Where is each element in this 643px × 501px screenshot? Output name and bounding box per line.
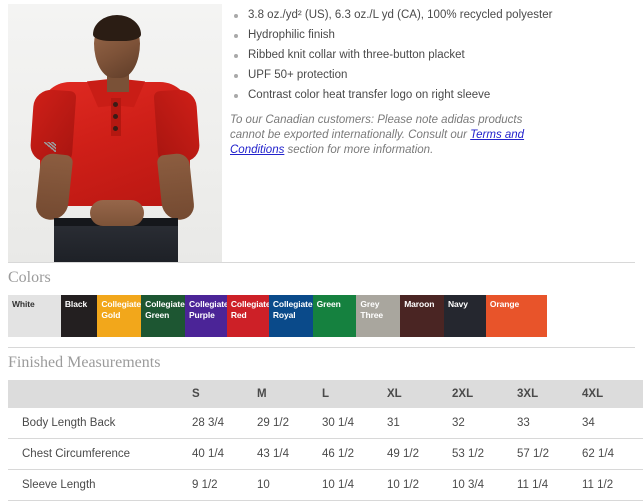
column-header-4xl: 4XL: [582, 380, 643, 408]
color-swatch-grey-three[interactable]: Grey Three: [356, 295, 400, 337]
row-label: Chest Circumference: [8, 439, 192, 470]
canada-note-text-after: section for more information.: [284, 144, 433, 156]
placket-button-2: [113, 114, 118, 119]
cell-4xl: 62 1/4: [582, 439, 643, 470]
color-swatch-maroon[interactable]: Maroon: [400, 295, 444, 337]
color-swatch-label: Black: [65, 299, 95, 310]
column-header-s: S: [192, 380, 257, 408]
color-swatch-collegiate-purple[interactable]: Collegiate Purple: [185, 295, 227, 337]
color-swatch-collegiate-red[interactable]: Collegiate Red: [227, 295, 269, 337]
table-row: Chest Circumference 40 1/4 43 1/4 46 1/2…: [8, 439, 643, 470]
color-swatch-collegiate-royal[interactable]: Collegiate Royal: [269, 295, 313, 337]
colors-heading: Colors: [8, 269, 643, 287]
row-label: Sleeve Length: [8, 470, 192, 501]
color-swatch-label: Green: [317, 299, 355, 310]
cell-3xl: 57 1/2: [517, 439, 582, 470]
list-item: UPF 50+ protection: [230, 68, 633, 83]
cell-xl: 31: [387, 408, 452, 439]
model-hands: [90, 200, 144, 226]
finished-measurements-table: S M L XL 2XL 3XL 4XL Body Length Back 28…: [8, 380, 643, 501]
measurements-section-divider: [8, 347, 635, 348]
cell-m: 29 1/2: [257, 408, 322, 439]
cell-4xl: 34: [582, 408, 643, 439]
column-header-measurement: [8, 380, 192, 408]
cell-s: 40 1/4: [192, 439, 257, 470]
polo-shirt-left-sleeve: [30, 89, 77, 164]
cell-l: 10 1/4: [322, 470, 387, 501]
column-header-3xl: 3XL: [517, 380, 582, 408]
table-header-row: S M L XL 2XL 3XL 4XL: [8, 380, 643, 408]
placket-button-1: [113, 102, 118, 107]
color-swatch-collegiate-green[interactable]: Collegiate Green: [141, 295, 185, 337]
cell-l: 30 1/4: [322, 408, 387, 439]
feature-list-container: 3.8 oz./yd² (US), 6.3 oz./L yd (CA), 100…: [222, 0, 643, 170]
cell-2xl: 10 3/4: [452, 470, 517, 501]
color-swatch-black[interactable]: Black: [61, 295, 97, 337]
list-item: 3.8 oz./yd² (US), 6.3 oz./L yd (CA), 100…: [230, 8, 633, 23]
color-swatch-list: White Black Collegiate Gold Collegiate G…: [8, 295, 547, 337]
table-header: S M L XL 2XL 3XL 4XL: [8, 380, 643, 408]
list-item: Contrast color heat transfer logo on rig…: [230, 88, 633, 103]
color-swatch-label: Collegiate Purple: [189, 299, 225, 320]
row-label: Body Length Back: [8, 408, 192, 439]
colors-section-divider: [8, 262, 635, 263]
color-swatch-label: White: [12, 299, 59, 310]
color-swatch-collegiate-gold[interactable]: Collegiate Gold: [97, 295, 141, 337]
adidas-logo-icon: [44, 142, 56, 152]
column-header-2xl: 2XL: [452, 380, 517, 408]
polo-shirt-right-sleeve: [154, 89, 201, 164]
column-header-m: M: [257, 380, 322, 408]
product-overview-section: 3.8 oz./yd² (US), 6.3 oz./L yd (CA), 100…: [0, 0, 643, 262]
cell-2xl: 32: [452, 408, 517, 439]
finished-measurements-heading: Finished Measurements: [8, 354, 643, 372]
color-swatch-label: Collegiate Red: [231, 299, 267, 320]
cell-xl: 49 1/2: [387, 439, 452, 470]
color-swatch-label: Collegiate Green: [145, 299, 183, 320]
cell-xl: 10 1/2: [387, 470, 452, 501]
color-swatch-label: Grey Three: [360, 299, 398, 320]
canadian-customers-note: To our Canadian customers: Please note a…: [230, 113, 560, 158]
product-image[interactable]: [8, 4, 222, 262]
product-feature-list: 3.8 oz./yd² (US), 6.3 oz./L yd (CA), 100…: [230, 8, 633, 103]
cell-m: 10: [257, 470, 322, 501]
color-swatch-navy[interactable]: Navy: [444, 295, 486, 337]
color-swatch-white[interactable]: White: [8, 295, 61, 337]
cell-m: 43 1/4: [257, 439, 322, 470]
cell-4xl: 11 1/2: [582, 470, 643, 501]
cell-3xl: 11 1/4: [517, 470, 582, 501]
color-swatch-green[interactable]: Green: [313, 295, 357, 337]
table-body: Body Length Back 28 3/4 29 1/2 30 1/4 31…: [8, 408, 643, 501]
column-header-l: L: [322, 380, 387, 408]
cell-s: 28 3/4: [192, 408, 257, 439]
color-swatch-orange[interactable]: Orange: [486, 295, 547, 337]
color-swatch-label: Navy: [448, 299, 484, 310]
list-item: Ribbed knit collar with three-button pla…: [230, 48, 633, 63]
list-item: Hydrophilic finish: [230, 28, 633, 43]
color-swatch-label: Maroon: [404, 299, 442, 310]
cell-l: 46 1/2: [322, 439, 387, 470]
table-row: Body Length Back 28 3/4 29 1/2 30 1/4 31…: [8, 408, 643, 439]
cell-2xl: 53 1/2: [452, 439, 517, 470]
cell-s: 9 1/2: [192, 470, 257, 501]
placket-button-3: [113, 126, 118, 131]
cell-3xl: 33: [517, 408, 582, 439]
color-swatch-label: Collegiate Gold: [101, 299, 139, 320]
table-row: Sleeve Length 9 1/2 10 10 1/4 10 1/2 10 …: [8, 470, 643, 501]
column-header-xl: XL: [387, 380, 452, 408]
color-swatch-label: Orange: [490, 299, 545, 310]
color-swatch-label: Collegiate Royal: [273, 299, 311, 320]
